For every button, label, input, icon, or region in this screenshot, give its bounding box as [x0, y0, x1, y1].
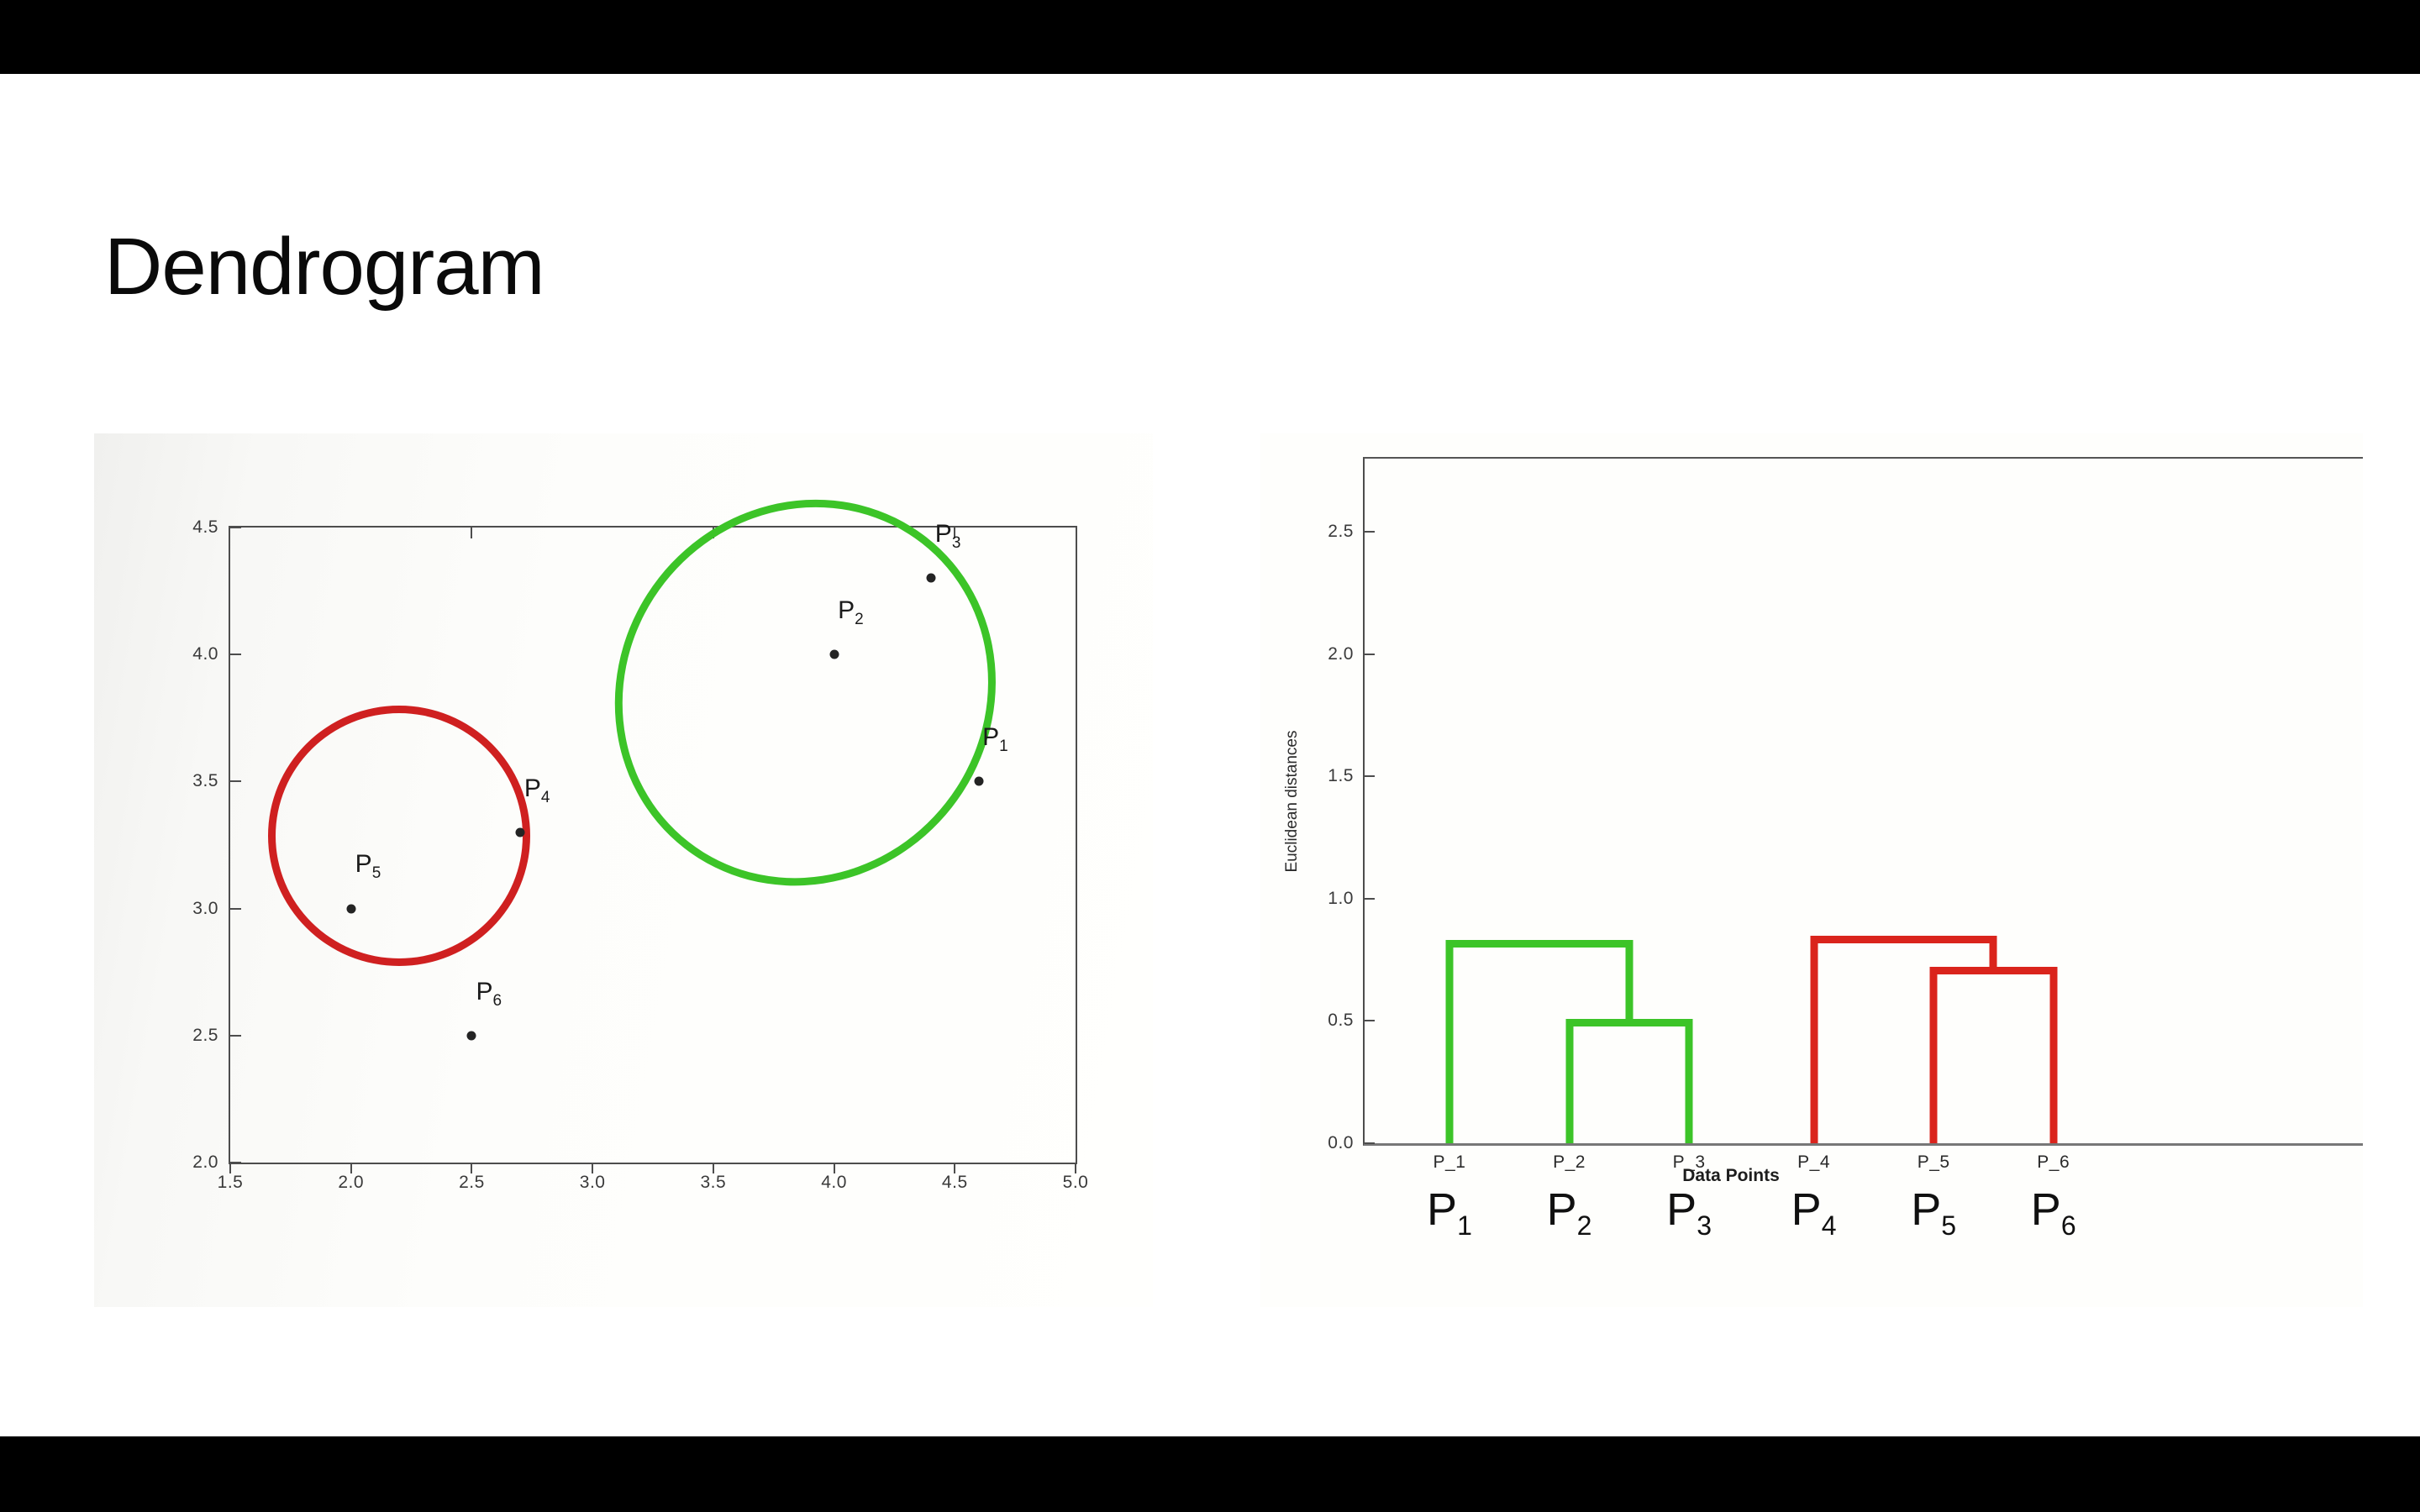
scatter-xtick-label: 1.5: [218, 1173, 244, 1193]
scatter-point-label: P2: [838, 596, 864, 629]
scatter-point: [515, 827, 524, 837]
scatter-point-label: P5: [355, 850, 381, 883]
dendrogram-ytick: [1365, 775, 1375, 777]
leaf-label-text: P: [2031, 1184, 2061, 1235]
scatter-xtick-label: 2.0: [338, 1173, 364, 1193]
leaf-label-text: P: [1666, 1184, 1697, 1235]
dendrogram-leaf-label-large: P3: [1666, 1187, 1712, 1239]
dendrogram-ytick-label: 1.5: [1328, 766, 1354, 786]
scatter-xtick-label: 3.5: [700, 1173, 726, 1193]
leaf-label-sub: 5: [1941, 1210, 1956, 1241]
scatter-xtick-label: 2.5: [459, 1173, 485, 1193]
scatter-xtick-label: 3.0: [580, 1173, 606, 1193]
scatter-point-label: P1: [982, 723, 1008, 756]
scatter-ytick-label: 2.5: [192, 1026, 218, 1046]
dendrogram-link-p2p3-stem: [1625, 940, 1633, 1018]
point-label-sub: 6: [493, 992, 502, 1010]
dendrogram-ytick: [1365, 654, 1375, 655]
dendrogram-link-p5: [1930, 967, 1938, 1143]
leaf-label-sub: 6: [2061, 1210, 2076, 1241]
letterbox-bottom-bar: [0, 1436, 2420, 1512]
scatter-ytick-label: 3.5: [192, 771, 218, 791]
dendrogram-link-p3: [1686, 1019, 1693, 1143]
point-label-text: P: [982, 723, 999, 751]
leaf-label-text: P: [1427, 1184, 1457, 1235]
scatter-point-label: P6: [476, 978, 502, 1011]
scatter-ytick: [230, 780, 241, 782]
dendrogram-leaf-tick: P_1: [1434, 1152, 1466, 1173]
point-label-sub: 5: [372, 864, 381, 882]
dendrogram-ytick: [1365, 1020, 1375, 1021]
point-label-sub: 4: [541, 789, 550, 806]
leaf-label-sub: 2: [1577, 1210, 1592, 1241]
scatter-ytick: [230, 1162, 241, 1163]
scatter-ytick: [230, 908, 241, 910]
point-label-text: P: [524, 774, 541, 802]
dendrogram-link-p2: [1565, 1019, 1573, 1143]
dendrogram-x-axis-label: Data Points: [1682, 1166, 1780, 1186]
leaf-label-text: P: [1911, 1184, 1941, 1235]
scatter-axes: 2.0 2.5 3.0 3.5 4.0 4.5 1.5 2.0 2.5 3: [229, 526, 1077, 1164]
dendrogram-leaf-tick: P_5: [1918, 1152, 1950, 1173]
scatter-point: [467, 1031, 476, 1040]
scatter-xtick-top: [471, 528, 472, 538]
point-label-sub: 1: [999, 738, 1008, 755]
dendrogram-link-p4: [1810, 936, 1818, 1143]
leaf-label-sub: 1: [1457, 1210, 1472, 1241]
dendrogram-ytick-label: 2.0: [1328, 644, 1354, 664]
dendrogram-merge-p1-p2p3: [1449, 940, 1629, 948]
dendrogram-link-p6: [2049, 967, 2057, 1143]
dendrogram-ytick: [1365, 1142, 1375, 1144]
scatter-point-label: P3: [935, 520, 961, 553]
scatter-xtick-label: 5.0: [1063, 1173, 1089, 1193]
scatter-point-label: P4: [524, 774, 550, 807]
dendrogram-merge-p2-p3: [1570, 1019, 1690, 1026]
figures-container: 2.0 2.5 3.0 3.5 4.0 4.5 1.5 2.0 2.5 3: [94, 360, 2363, 1317]
leaf-label-sub: 4: [1822, 1210, 1837, 1241]
page-title: Dendrogram: [104, 227, 544, 307]
dendrogram-ytick-label: 2.5: [1328, 522, 1354, 542]
scatter-ytick-label: 4.5: [192, 517, 218, 538]
scatter-plot-figure: 2.0 2.5 3.0 3.5 4.0 4.5 1.5 2.0 2.5 3: [94, 433, 1153, 1307]
dendrogram-leaf-label-large: P4: [1791, 1187, 1837, 1239]
slide-canvas: Dendrogram 2.0 2.5 3.0 3.5 4.0 4.5 1.5: [0, 74, 2420, 1436]
point-label-sub: 2: [855, 611, 864, 628]
scatter-ytick-label: 4.0: [192, 644, 218, 664]
dendrogram-merge-p5-p6: [1933, 967, 2054, 974]
scatter-xtick-label: 4.0: [821, 1173, 847, 1193]
green-cluster-ellipse: [537, 423, 1072, 963]
scatter-xtick-top: [713, 528, 714, 538]
scatter-point: [346, 904, 355, 913]
point-label-text: P: [355, 850, 372, 878]
dendrogram-ytick-label: 1.0: [1328, 889, 1354, 909]
scatter-ytick: [230, 1035, 241, 1037]
scatter-ytick-label: 2.0: [192, 1152, 218, 1173]
letterbox-top-bar: [0, 0, 2420, 74]
leaf-label-text: P: [1791, 1184, 1822, 1235]
dendrogram-y-axis-label: Euclidean distances: [1283, 731, 1302, 873]
dendrogram-merge-p4-p5p6: [1814, 936, 1994, 943]
point-label-text: P: [476, 978, 493, 1005]
leaf-label-text: P: [1547, 1184, 1577, 1235]
dendrogram-ytick: [1365, 898, 1375, 900]
scatter-point: [829, 650, 839, 659]
dendrogram-leaf-tick: P_2: [1553, 1152, 1586, 1173]
dendrogram-leaf-label-large: P1: [1427, 1187, 1472, 1239]
dendrogram-ytick-label: 0.5: [1328, 1011, 1354, 1031]
dendrogram-leaf-label-large: P2: [1547, 1187, 1592, 1239]
scatter-ytick: [230, 527, 241, 528]
dendrogram-link-p1: [1445, 940, 1453, 1143]
point-label-sub: 3: [952, 534, 961, 552]
red-cluster-circle: [268, 706, 530, 966]
point-label-text: P: [935, 520, 952, 548]
leaf-label-sub: 3: [1697, 1210, 1712, 1241]
scatter-ytick-label: 3.0: [192, 899, 218, 919]
scatter-ytick: [230, 654, 241, 655]
dendrogram-leaf-tick: P_4: [1797, 1152, 1830, 1173]
dendrogram-ytick-label: 0.0: [1328, 1133, 1354, 1153]
scatter-point: [926, 574, 935, 583]
dendrogram-leaf-label-large: P6: [2031, 1187, 2076, 1239]
dendrogram-figure: Euclidean distances 0.0 0.5 1.0 1.5 2.0 …: [1260, 433, 2363, 1307]
scatter-xtick-label: 4.5: [942, 1173, 968, 1193]
scatter-point: [975, 777, 984, 786]
dendrogram-leaf-label-large: P5: [1911, 1187, 1956, 1239]
point-label-text: P: [838, 596, 855, 624]
dendrogram-axes: 0.0 0.5 1.0 1.5 2.0 2.5: [1363, 457, 2363, 1146]
dendrogram-leaf-tick: P_6: [2037, 1152, 2070, 1173]
dendrogram-ytick: [1365, 531, 1375, 533]
